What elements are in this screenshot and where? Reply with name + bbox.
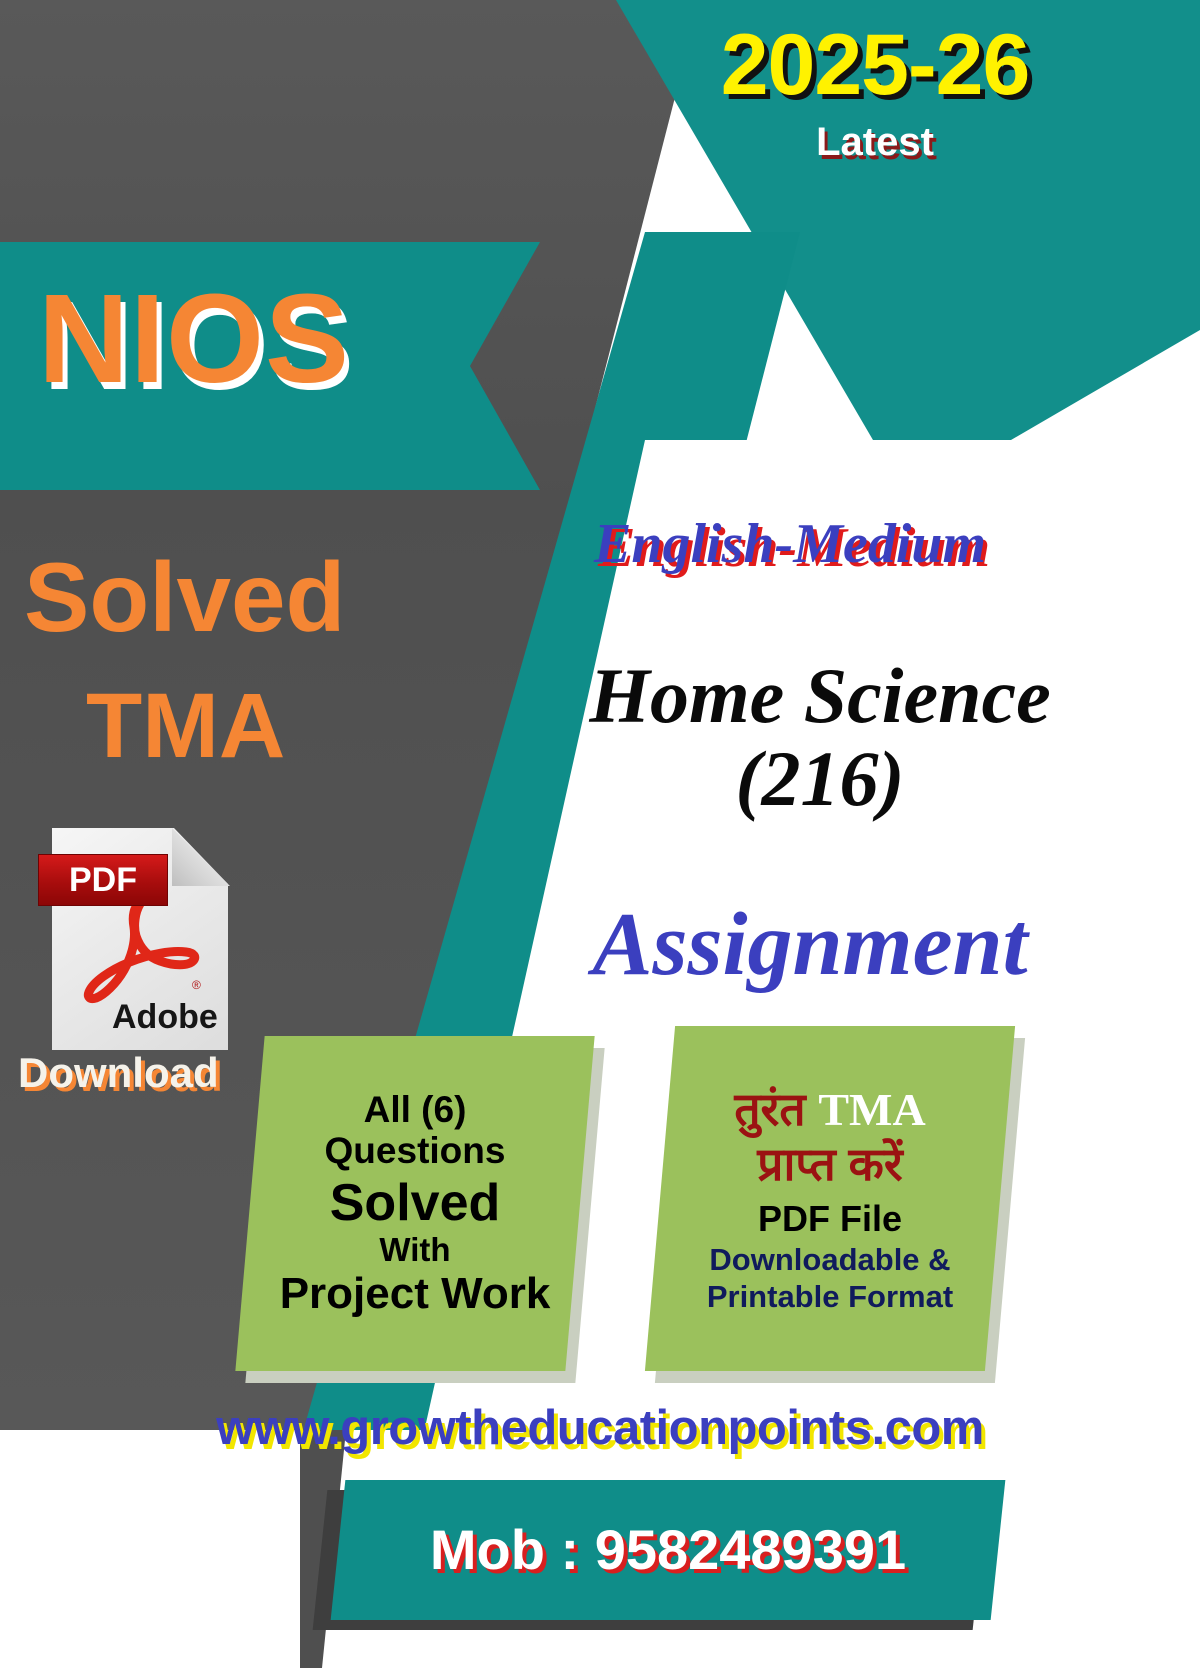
card-left-line4: With xyxy=(379,1232,450,1269)
download-label[interactable]: Download xyxy=(18,1052,219,1094)
feature-card-pdf: तुरंत TMA प्राप्त करें PDF File Download… xyxy=(660,1026,1000,1371)
card-left-line3: Solved xyxy=(330,1174,501,1232)
pdf-adobe-icon[interactable]: ® Adobe PDF xyxy=(52,828,228,1050)
card-right-line2: प्राप्त करें xyxy=(757,1137,902,1191)
registered-mark: ® xyxy=(192,978,201,992)
org-title: NIOS xyxy=(38,276,350,402)
card-right-line1-hindi: तुरंत xyxy=(734,1083,805,1135)
card-left-line2: Questions xyxy=(325,1130,506,1171)
card-right-line4: Downloadable & xyxy=(709,1241,950,1278)
tma-label: TMA xyxy=(86,680,285,772)
solved-label: Solved xyxy=(24,548,345,646)
card-right-line1-tma: TMA xyxy=(818,1084,925,1135)
card-left-line5: Project Work xyxy=(280,1269,551,1318)
card-right-line3: PDF File xyxy=(758,1197,902,1240)
subject-code: (216) xyxy=(470,738,1170,821)
card-right-line1: तुरंत TMA xyxy=(734,1082,925,1137)
year-badge: 2025-26 Latest xyxy=(640,22,1110,162)
adobe-wordmark: Adobe xyxy=(112,1000,218,1034)
mobile-contact-banner[interactable]: Mob : 9582489391 xyxy=(338,1480,998,1620)
feature-card-questions: All (6) Questions Solved With Project Wo… xyxy=(250,1036,580,1371)
mobile-number: Mob : 9582489391 xyxy=(338,1480,998,1620)
pdf-page-fold xyxy=(172,828,230,888)
subject-name: Home Science xyxy=(470,655,1170,738)
card-right-line5: Printable Format xyxy=(707,1278,953,1315)
card-content: All (6) Questions Solved With Project Wo… xyxy=(250,1036,580,1371)
adobe-swirl-icon xyxy=(82,900,202,1010)
card-left-line1: All (6) xyxy=(364,1089,467,1130)
subject-title: Home Science (216) xyxy=(470,655,1170,820)
poster-canvas: 2025-26 Latest NIOS Solved TMA ® Adobe P… xyxy=(0,0,1200,1668)
medium-label: English-Medium xyxy=(594,516,986,572)
year-text: 2025-26 xyxy=(640,22,1110,108)
pdf-badge-label: PDF xyxy=(69,863,137,897)
latest-label: Latest xyxy=(640,122,1110,162)
website-url[interactable]: www.growtheducationpoints.com xyxy=(0,1404,1200,1453)
doc-type-title: Assignment xyxy=(440,900,1180,990)
pdf-badge: PDF xyxy=(38,854,168,906)
card-content: तुरंत TMA प्राप्त करें PDF File Download… xyxy=(660,1026,1000,1371)
